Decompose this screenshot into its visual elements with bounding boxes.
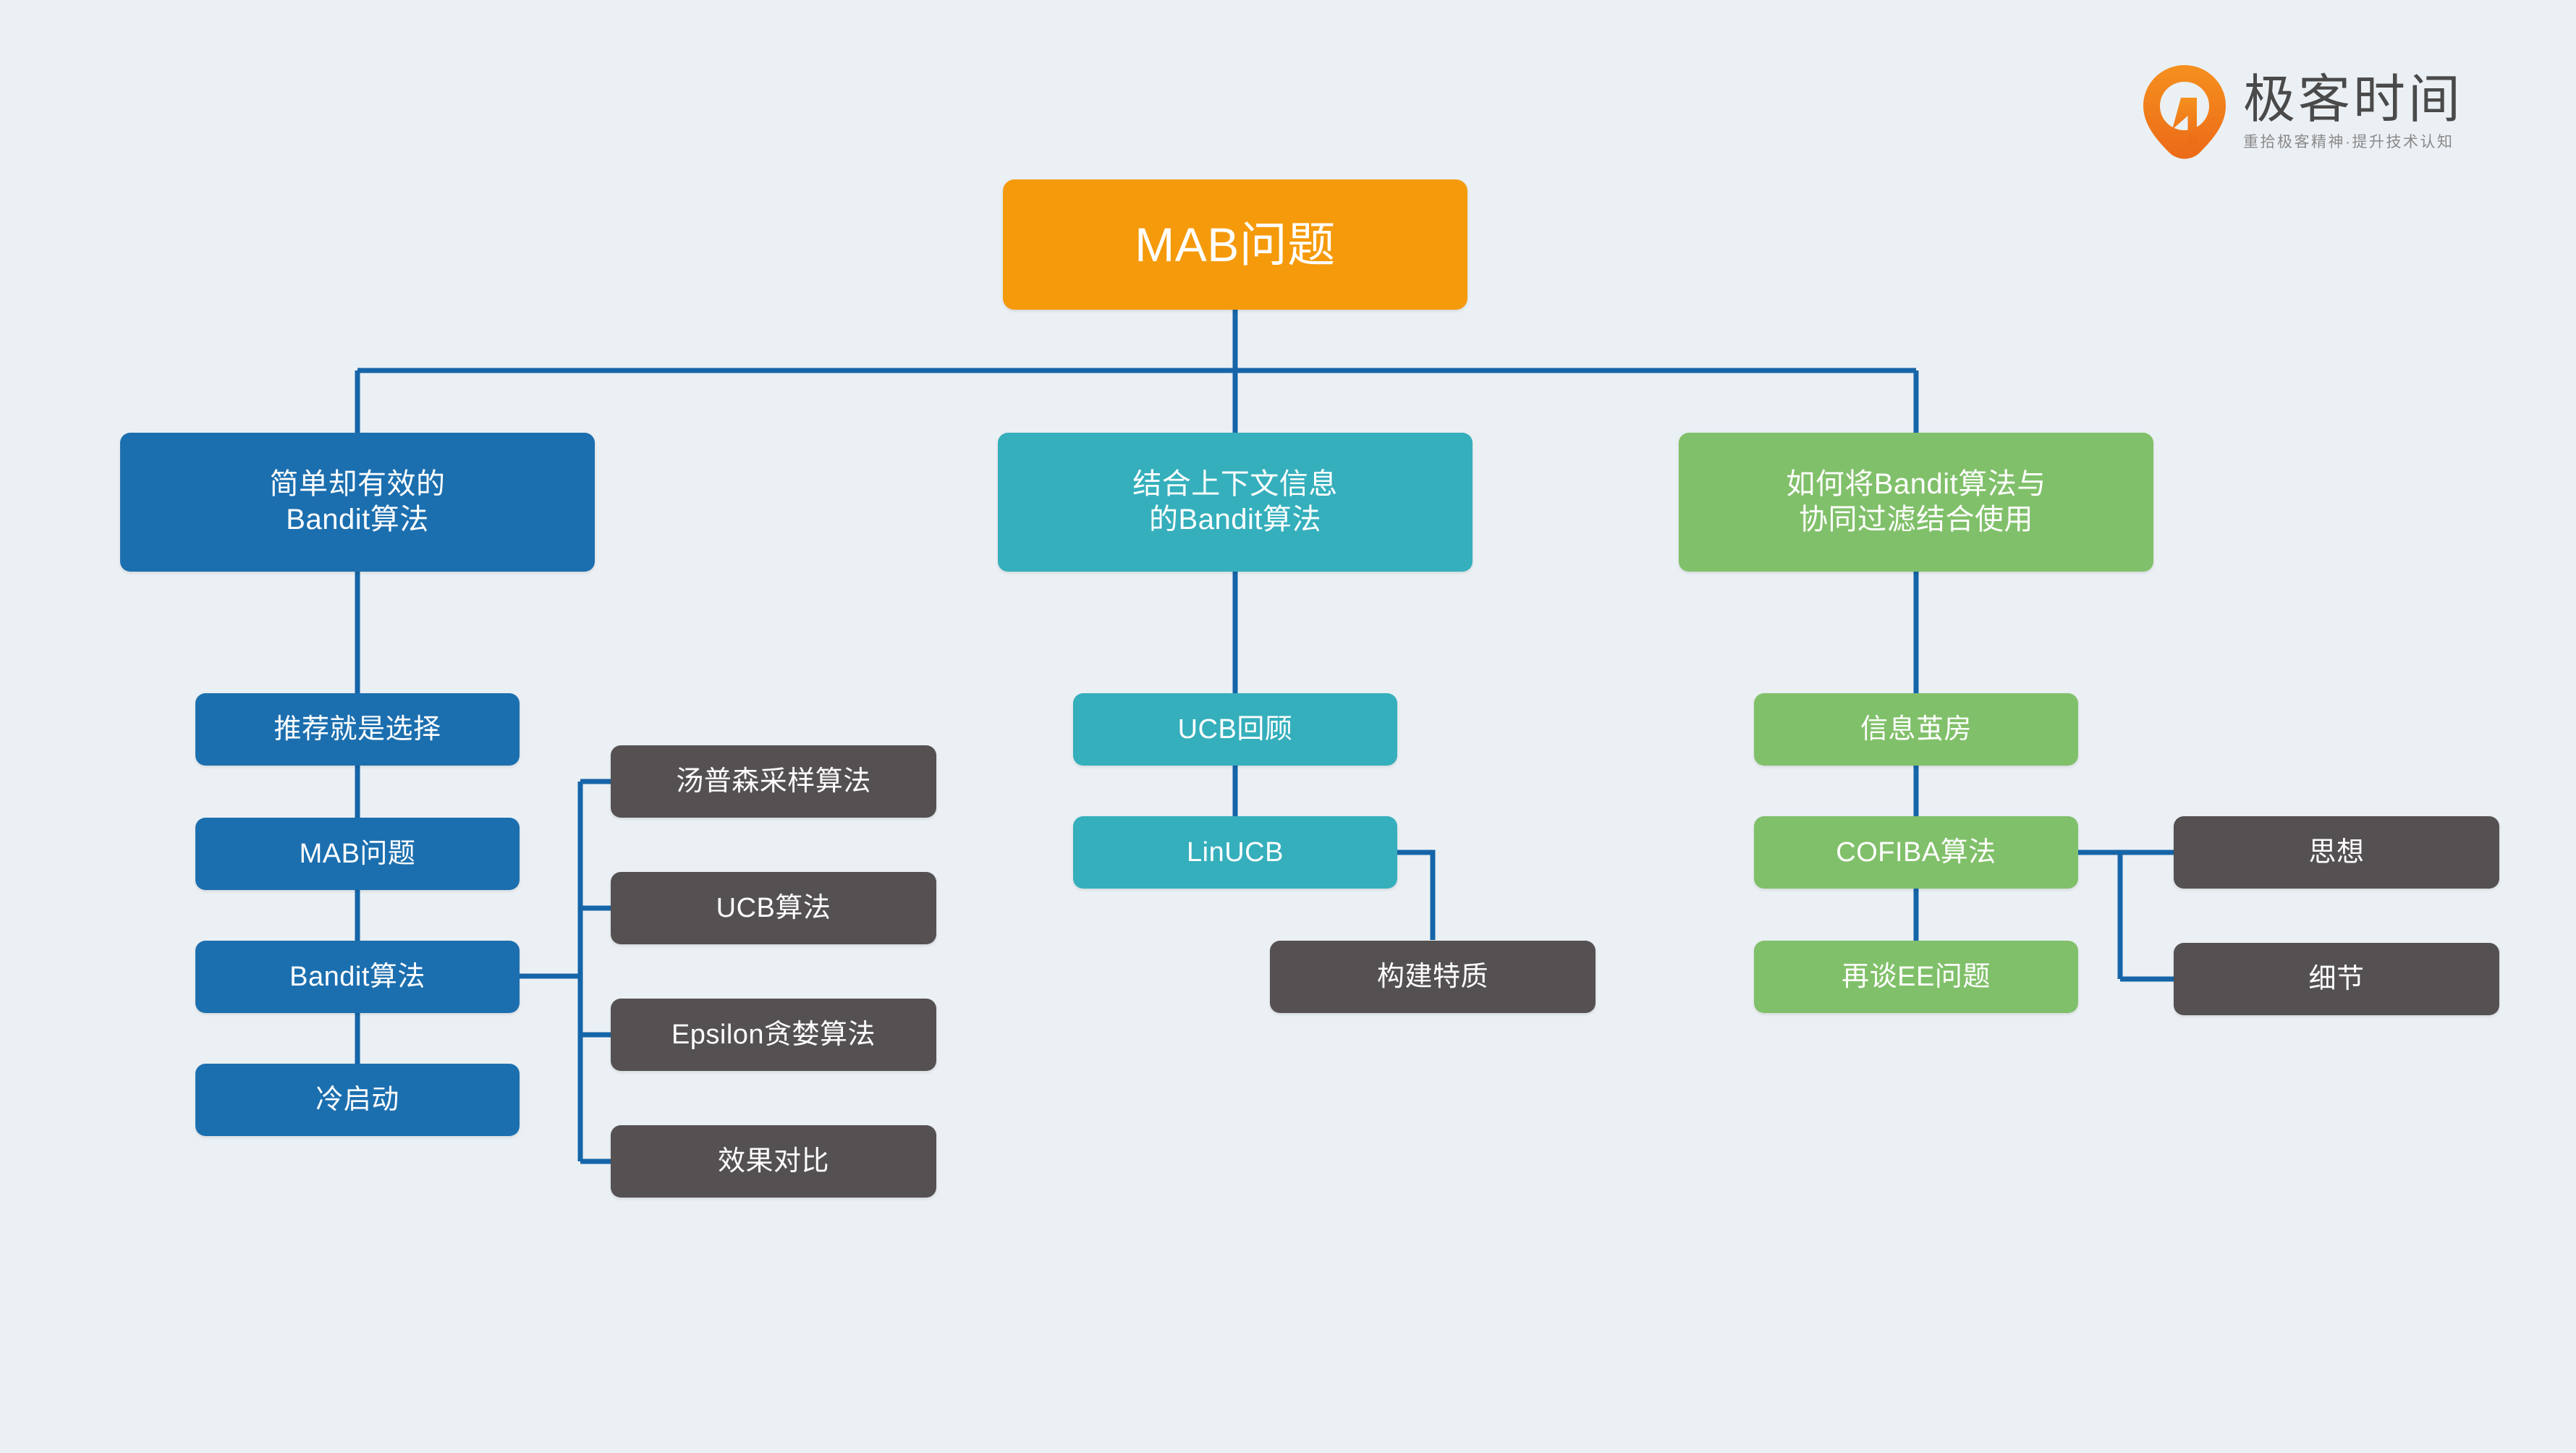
node-b1-leaf-3[interactable]: Epsilon贪婪算法 — [611, 999, 936, 1071]
node-b3-child-3[interactable]: 再谈EE问题 — [1754, 941, 2078, 1013]
brand-title: 极客时间 — [2243, 74, 2463, 126]
edge-b2c2-to-gray — [1397, 852, 1433, 940]
brand-tagline: 重拾极客精神·提升技术认知 — [2243, 135, 2463, 150]
node-b3-child-1[interactable]: 信息茧房 — [1754, 693, 2078, 766]
node-b3-leaf-2[interactable]: 细节 — [2174, 943, 2499, 1015]
brand-text: 极客时间 重拾极客精神·提升技术认知 — [2243, 74, 2463, 150]
node-branch-2[interactable]: 结合上下文信息 的Bandit算法 — [998, 433, 1473, 572]
node-b1-child-3[interactable]: Bandit算法 — [195, 941, 520, 1013]
node-b1-child-2[interactable]: MAB问题 — [195, 818, 520, 890]
mindmap-canvas: 极客时间 重拾极客精神·提升技术认知 MAB问题 简单却有效的 Bandit算法… — [0, 0, 2576, 1453]
node-b1-child-4[interactable]: 冷启动 — [195, 1064, 520, 1136]
brand-logo: 极客时间 重拾极客精神·提升技术认知 — [2142, 64, 2463, 159]
geekbang-pin-icon — [2142, 64, 2227, 159]
node-b1-leaf-1[interactable]: 汤普森采样算法 — [611, 745, 936, 818]
node-b1-leaf-2[interactable]: UCB算法 — [611, 872, 936, 944]
node-branch-3[interactable]: 如何将Bandit算法与 协同过滤结合使用 — [1679, 433, 2153, 572]
node-branch-1[interactable]: 简单却有效的 Bandit算法 — [120, 433, 595, 572]
node-b1-child-1[interactable]: 推荐就是选择 — [195, 693, 520, 766]
node-b3-leaf-1[interactable]: 思想 — [2174, 816, 2499, 889]
node-b2-child-1[interactable]: UCB回顾 — [1073, 693, 1397, 766]
node-b2-leaf-1[interactable]: 构建特质 — [1270, 941, 1596, 1013]
node-b1-leaf-4[interactable]: 效果对比 — [611, 1125, 936, 1198]
node-root[interactable]: MAB问题 — [1003, 179, 1467, 310]
node-b2-child-2[interactable]: LinUCB — [1073, 816, 1397, 889]
node-b3-child-2[interactable]: COFIBA算法 — [1754, 816, 2078, 889]
